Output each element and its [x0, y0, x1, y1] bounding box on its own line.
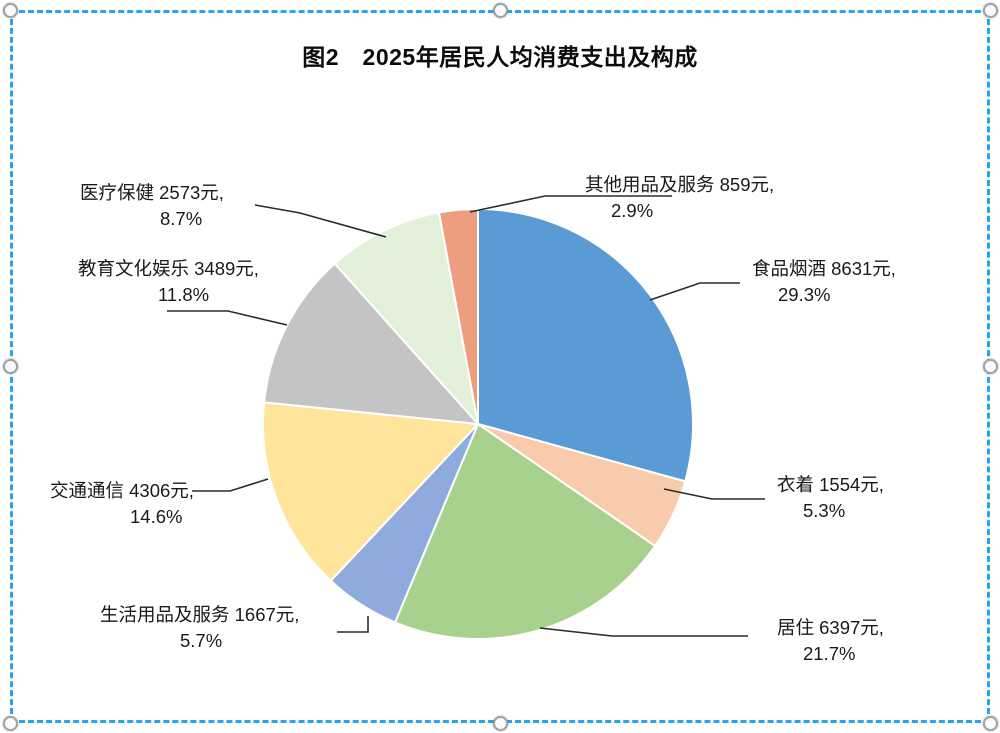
pie-label-food-line2: 29.3% [752, 282, 896, 308]
pie-label-food: 食品烟酒 8631元, 29.3% [752, 256, 896, 309]
resize-handle-bottom-center[interactable] [493, 716, 508, 731]
resize-handle-bottom-left[interactable] [3, 716, 18, 731]
resize-handle-middle-left[interactable] [3, 359, 18, 374]
pie-label-housing-line1: 居住 6397元, [777, 615, 884, 641]
pie-label-housing: 居住 6397元, 21.7% [777, 615, 884, 668]
pie-label-household-line1: 生活用品及服务 1667元, [100, 602, 299, 628]
resize-handle-top-right[interactable] [983, 3, 998, 18]
resize-handle-top-left[interactable] [3, 3, 18, 18]
pie-label-education-line2: 11.8% [78, 282, 259, 308]
pie-label-health-line2: 8.7% [80, 206, 224, 232]
pie-label-transport-line2: 14.6% [50, 504, 194, 530]
pie-label-health-line1: 医疗保健 2573元, [80, 180, 224, 206]
pie-label-other-line2: 2.9% [585, 198, 774, 224]
pie-label-education-line1: 教育文化娱乐 3489元, [78, 256, 259, 282]
pie-label-clothing-line2: 5.3% [777, 498, 884, 524]
pie-label-transport: 交通通信 4306元, 14.6% [50, 478, 194, 531]
pie-slice-group [263, 209, 693, 639]
pie-label-clothing-line1: 衣着 1554元, [777, 472, 884, 498]
chart-title: 图2 2025年居民人均消费支出及构成 [0, 38, 1000, 72]
resize-handle-middle-right[interactable] [983, 359, 998, 374]
chart-canvas: 图2 2025年居民人均消费支出及构成 其他用品及服务 859元, 2.9% 食… [0, 0, 1000, 733]
pie-label-other-line1: 其他用品及服务 859元, [585, 172, 774, 198]
leader-line-transport [192, 479, 268, 491]
pie-label-other: 其他用品及服务 859元, 2.9% [585, 172, 774, 225]
leader-line-housing [540, 628, 748, 636]
leader-line-household [337, 616, 368, 632]
pie-label-household: 生活用品及服务 1667元, 5.7% [100, 602, 299, 655]
pie-label-household-line2: 5.7% [100, 628, 299, 654]
pie-label-education: 教育文化娱乐 3489元, 11.8% [78, 256, 259, 309]
leader-line-food [650, 283, 740, 300]
pie-label-food-line1: 食品烟酒 8631元, [752, 256, 896, 282]
resize-handle-top-center[interactable] [493, 3, 508, 18]
leader-line-education [167, 311, 287, 325]
pie-label-clothing: 衣着 1554元, 5.3% [777, 472, 884, 525]
pie-label-transport-line1: 交通通信 4306元, [50, 478, 194, 504]
resize-handle-bottom-right[interactable] [983, 716, 998, 731]
pie-label-health: 医疗保健 2573元, 8.7% [80, 180, 224, 233]
leader-line-health [255, 205, 386, 237]
pie-label-housing-line2: 21.7% [777, 641, 884, 667]
